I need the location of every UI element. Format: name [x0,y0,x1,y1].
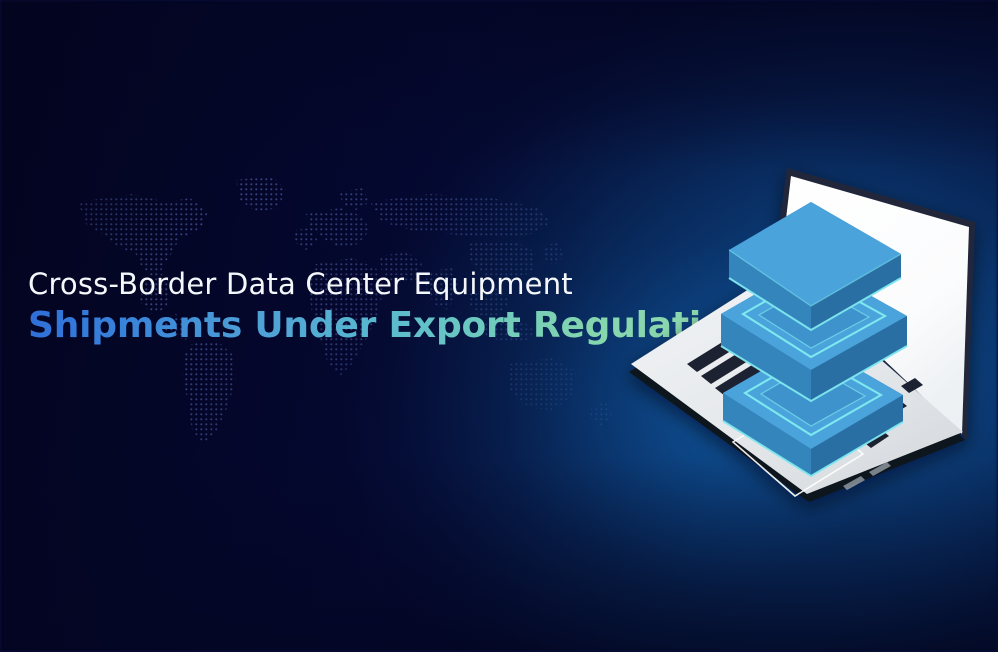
hero-banner: Cross-Border Data Center Equipment Shipm… [0,0,998,652]
laptop-server-illustration [615,150,998,520]
server-stack-icon [721,202,907,476]
